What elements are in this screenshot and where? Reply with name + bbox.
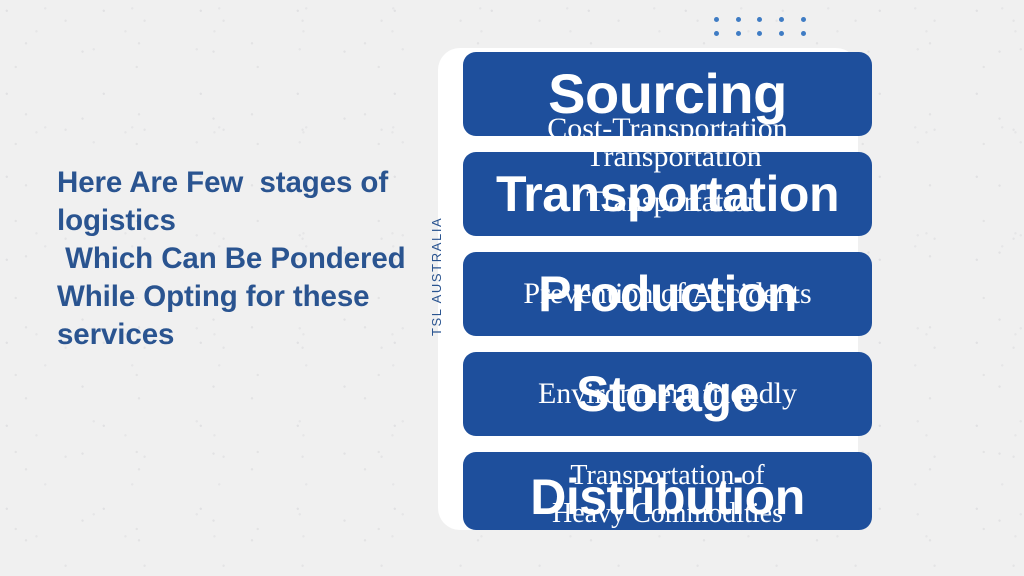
stage-item-distribution[interactable]: Transportation of Heavy Commodities Dist… (463, 452, 872, 530)
dot (714, 17, 719, 22)
stage-item-transportation[interactable]: Transportation Transportation Transporta… (463, 152, 872, 236)
dot (757, 17, 762, 22)
slide-canvas: Here Are Few stages of logistics Which C… (0, 0, 1024, 576)
stage-item-storage[interactable]: Environment friendly Storage (463, 352, 872, 436)
dot (779, 31, 784, 36)
stage-title: Distribution (463, 458, 872, 536)
stage-title: Transportation (463, 152, 872, 236)
dot (714, 31, 719, 36)
dot-grid-icon (706, 12, 814, 40)
dot (801, 17, 806, 22)
stage-title: Production (463, 252, 872, 336)
dot (801, 31, 806, 36)
stage-item-sourcing[interactable]: Cost-Transportation Sourcing (463, 52, 872, 136)
dot (736, 31, 741, 36)
stage-title: Storage (463, 352, 872, 436)
stage-item-production[interactable]: Prevention of Accidents Production (463, 252, 872, 336)
dot (757, 31, 762, 36)
brand-vertical-label: TSL AUSTRALIA (429, 196, 453, 356)
dot (736, 17, 741, 22)
stage-title: Sourcing (463, 52, 872, 136)
slide-heading: Here Are Few stages of logistics Which C… (57, 164, 427, 354)
dot (779, 17, 784, 22)
